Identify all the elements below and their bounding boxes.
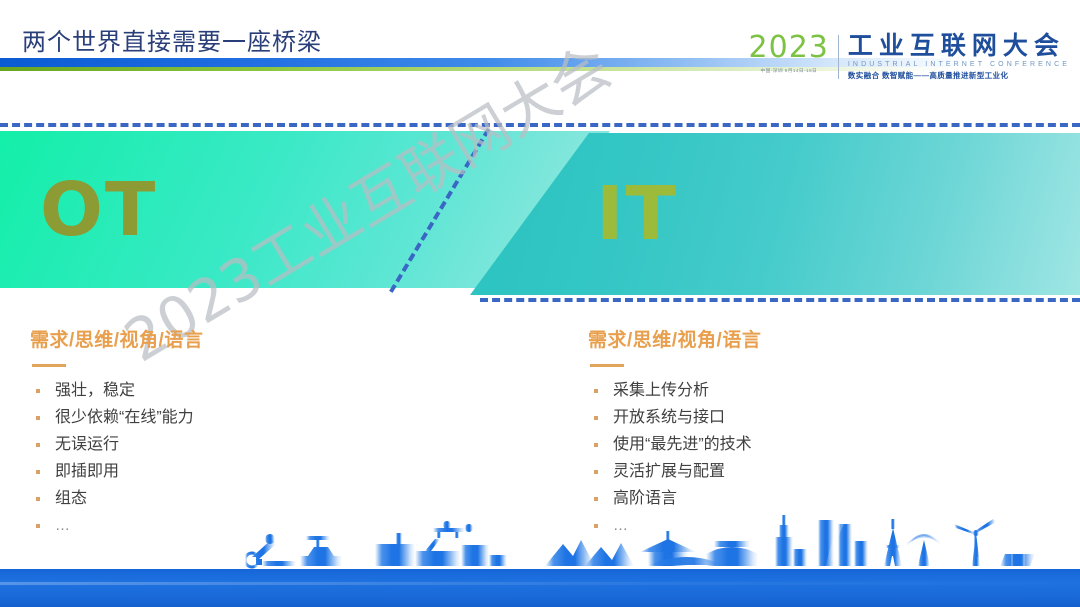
it-panel-label: IT bbox=[596, 177, 678, 251]
ot-panel-label: OT bbox=[40, 173, 157, 247]
footer-skyline bbox=[0, 512, 1080, 607]
skyline-shapes bbox=[245, 515, 1035, 567]
logo-name-cn: 工业互联网大会 bbox=[848, 33, 1070, 59]
list-item: 开放系统与接口 bbox=[588, 408, 1018, 427]
list-item: 灵活扩展与配置 bbox=[588, 462, 1018, 481]
logo-slogan: 数实融合 数智赋能——高质量推进新型工业化 bbox=[848, 70, 1070, 81]
list-item: 无误运行 bbox=[30, 435, 460, 454]
it-heading-divider bbox=[590, 364, 624, 367]
ot-heading-divider bbox=[32, 364, 66, 367]
list-item: 强壮，稳定 bbox=[30, 381, 460, 400]
logo-divider bbox=[838, 35, 839, 79]
ot-it-banner: OT IT bbox=[0, 112, 1080, 312]
logo-name-en: INDUSTRIAL INTERNET CONFERENCE bbox=[848, 61, 1070, 68]
logo-year-block: 2023 中国·深圳 9月14日-16日 bbox=[749, 33, 838, 74]
list-item: 使用“最先进”的技术 bbox=[588, 435, 1018, 454]
list-item: 采集上传分析 bbox=[588, 381, 1018, 400]
logo-name-block: 工业互联网大会 INDUSTRIAL INTERNET CONFERENCE 数… bbox=[848, 33, 1070, 81]
page-title: 两个世界直接需要一座桥梁 bbox=[22, 22, 322, 57]
ot-column-heading: 需求/思维/视角/语言 bbox=[30, 325, 460, 352]
skyline-illustration bbox=[0, 511, 1080, 573]
list-item: 很少依赖“在线”能力 bbox=[30, 408, 460, 427]
list-item: 高阶语言 bbox=[588, 489, 1018, 508]
it-column-heading: 需求/思维/视角/语言 bbox=[588, 325, 1018, 352]
dashed-border-top bbox=[0, 123, 1080, 127]
slide-canvas: 两个世界直接需要一座桥梁 2023 中国·深圳 9月14日-16日 工业互联网大… bbox=[0, 0, 1080, 607]
logo-year: 2023 bbox=[749, 33, 829, 63]
logo-date: 中国·深圳 9月14日-16日 bbox=[760, 67, 817, 74]
conference-logo: 2023 中国·深圳 9月14日-16日 工业互联网大会 INDUSTRIAL … bbox=[749, 33, 1070, 81]
dashed-border-bottom bbox=[480, 298, 1080, 302]
water-band bbox=[0, 569, 1080, 607]
list-item: 即插即用 bbox=[30, 462, 460, 481]
water-highlight bbox=[0, 582, 1080, 585]
list-item: 组态 bbox=[30, 489, 460, 508]
